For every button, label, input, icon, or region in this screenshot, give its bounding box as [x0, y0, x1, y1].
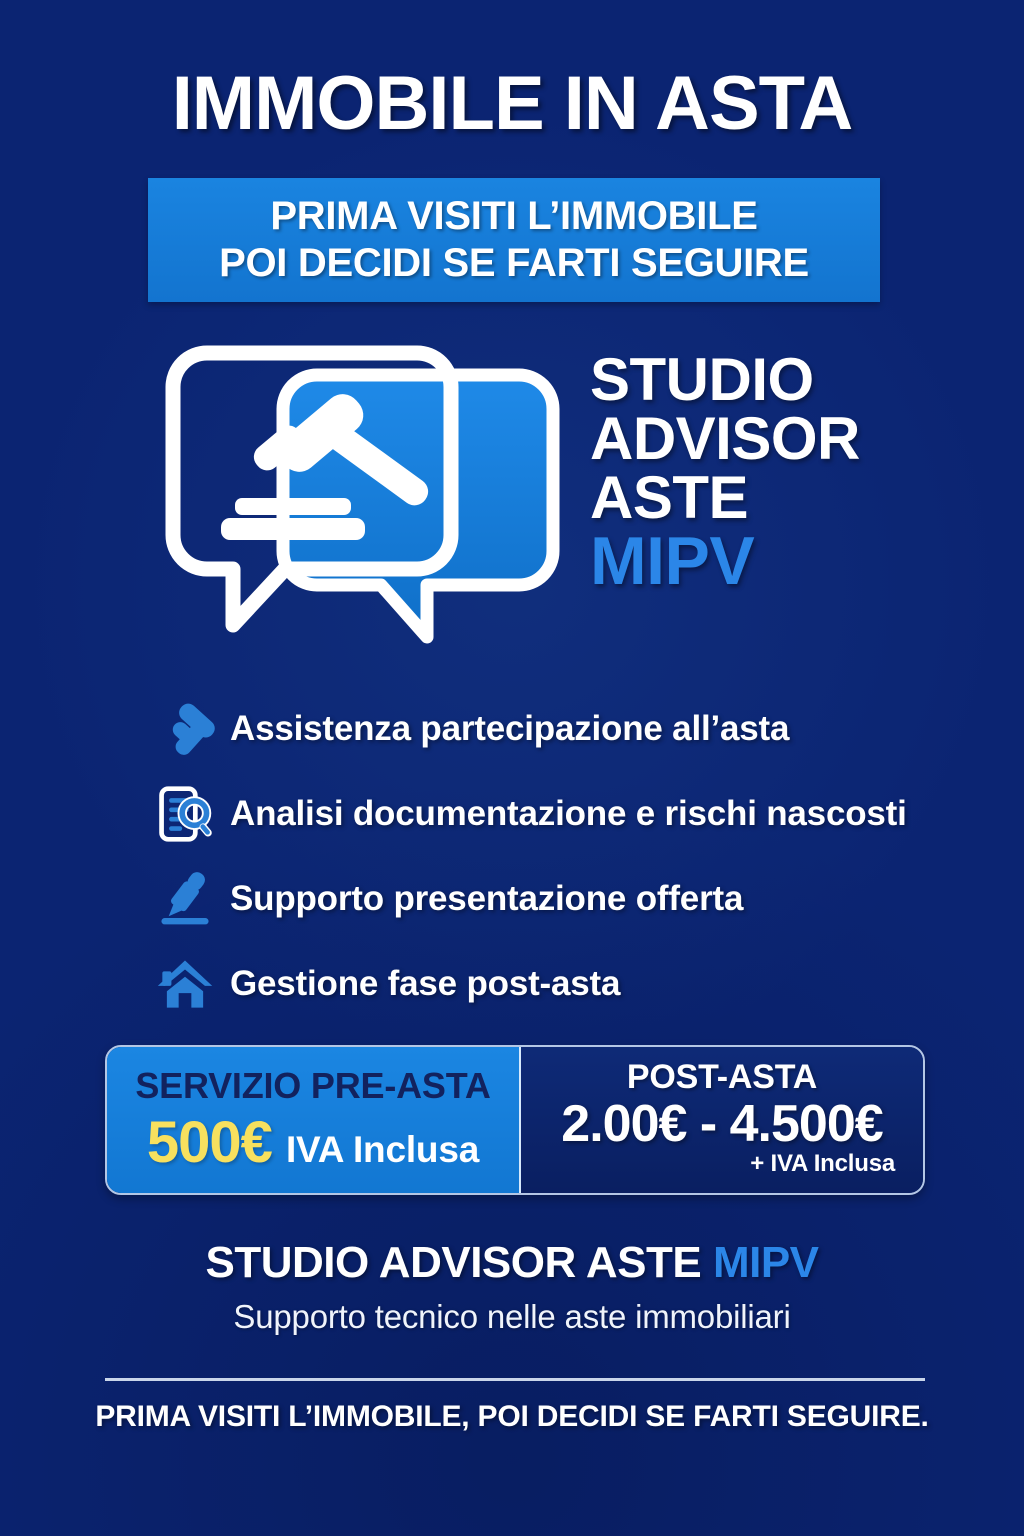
pricing-post-asta-panel: POST-ASTA 2.00€ - 4.500€ + IVA Inclusa — [521, 1047, 923, 1193]
logo-line-advisor: ADVISOR — [590, 410, 910, 469]
footer-brand-accent: MIPV — [713, 1238, 819, 1287]
footer-subtitle: Supporto tecnico nelle aste immobiliari — [0, 1298, 1024, 1336]
feature-label: Analisi documentazione e rischi nascosti — [230, 794, 907, 834]
footer-brand: STUDIO ADVISOR ASTE MIPV — [0, 1238, 1024, 1288]
pricing-pre-asta-title: SERVIZIO PRE-ASTA — [135, 1065, 490, 1107]
poster-root: IMMOBILE IN ASTA PRIMA VISITI L’IMMOBILE… — [0, 0, 1024, 1536]
headline-banner-line-1: PRIMA VISITI L’IMMOBILE — [270, 194, 757, 239]
footer-brand-main: STUDIO ADVISOR ASTE — [205, 1238, 712, 1287]
feature-label: Gestione fase post-asta — [230, 964, 620, 1004]
headline-banner-line-2: POI DECIDI SE FARTI SEGUIRE — [219, 241, 809, 286]
pricing-pre-asta-amount: 500€ — [147, 1109, 272, 1176]
list-item: Gestione fase post-asta — [140, 941, 940, 1026]
footer-tagline: PRIMA VISITI L’IMMOBILE, POI DECIDI SE F… — [0, 1400, 1024, 1434]
brand-logo-block: STUDIO ADVISOR ASTE MIPV — [165, 345, 905, 645]
logo-line-studio: STUDIO — [590, 351, 910, 410]
list-item: Assistenza partecipazione all’asta — [140, 686, 940, 771]
logo-line-aste: ASTE — [590, 469, 910, 528]
house-icon — [140, 948, 230, 1020]
brand-logo-wordmark: STUDIO ADVISOR ASTE MIPV — [590, 351, 910, 597]
pricing-pre-asta-row: 500€ IVA Inclusa — [147, 1109, 479, 1176]
feature-label: Supporto presentazione offerta — [230, 879, 743, 919]
document-search-icon — [140, 778, 230, 850]
pricing-post-asta-amount: 2.00€ - 4.500€ — [561, 1097, 882, 1152]
pricing-box: SERVIZIO PRE-ASTA 500€ IVA Inclusa POST-… — [105, 1045, 925, 1195]
pricing-pre-asta-panel: SERVIZIO PRE-ASTA 500€ IVA Inclusa — [107, 1047, 521, 1193]
pricing-post-asta-title: POST-ASTA — [627, 1058, 817, 1097]
list-item: Supporto presentazione offerta — [140, 856, 940, 941]
feature-list: Assistenza partecipazione all’asta — [140, 686, 940, 1026]
pricing-post-asta-note: + IVA Inclusa — [750, 1150, 895, 1178]
pen-signature-icon — [140, 863, 230, 935]
page-title: IMMOBILE IN ASTA — [0, 66, 1024, 142]
logo-line-mipv: MIPV — [590, 527, 910, 596]
footer-divider — [105, 1378, 925, 1381]
gavel-icon — [140, 693, 230, 765]
pricing-pre-asta-note: IVA Inclusa — [286, 1129, 479, 1171]
headline-banner: PRIMA VISITI L’IMMOBILE POI DECIDI SE FA… — [148, 178, 880, 302]
speech-bubble-gavel-logo-icon — [165, 345, 560, 645]
feature-label: Assistenza partecipazione all’asta — [230, 709, 789, 749]
list-item: Analisi documentazione e rischi nascosti — [140, 771, 940, 856]
